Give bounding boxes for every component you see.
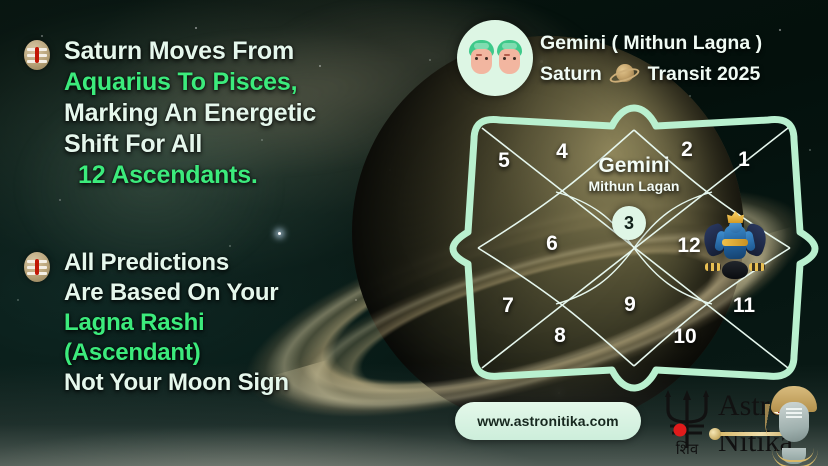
- house-number-8: 8: [554, 324, 566, 348]
- message-block-1: Saturn Moves From Aquarius To Pisces, Ma…: [24, 36, 316, 191]
- website-pill[interactable]: www.astronitika.com: [455, 402, 641, 440]
- headline-line: Saturn Moves From: [64, 36, 316, 67]
- house-number-5: 5: [498, 149, 510, 173]
- header-title: Gemini ( Mithun Lagna ) Saturn Transit 2…: [540, 28, 828, 90]
- sign-name: Gemini: [544, 154, 724, 177]
- shiva-face-icon: [762, 386, 828, 464]
- message-block-2-lines: All Predictions Are Based On Your Lagna …: [64, 248, 289, 398]
- house-number-1: 1: [738, 148, 750, 172]
- headline-line: 12 Ascendants.: [64, 160, 316, 191]
- house-number-6: 6: [546, 232, 558, 256]
- gemini-twins-icon: [457, 20, 533, 96]
- saturn-deity-icon: [704, 211, 766, 279]
- subline: Are Based On Your: [64, 278, 289, 308]
- message-block-1-lines: Saturn Moves From Aquarius To Pisces, Ma…: [64, 36, 316, 191]
- house-number-12: 12: [677, 234, 700, 258]
- headline-line: Shift For All: [64, 129, 316, 160]
- trishul-icon: शिव: [656, 390, 718, 456]
- subline: All Predictions: [64, 248, 289, 278]
- message-block-2: All Predictions Are Based On Your Lagna …: [24, 248, 289, 398]
- header-saturn-word: Saturn: [540, 63, 602, 85]
- sign-name-local: Mithun Lagan: [544, 177, 724, 195]
- twin-face-right: [496, 38, 523, 78]
- saturn-planet-icon: [609, 63, 640, 85]
- devanagari-shiva: शिव: [676, 440, 699, 456]
- astronitika-logo[interactable]: शिव Astro Nitika: [652, 386, 828, 464]
- house-number-4: 4: [556, 140, 568, 164]
- twin-face-left: [468, 38, 495, 78]
- promo-banner: Saturn Moves From Aquarius To Pisces, Ma…: [0, 0, 828, 466]
- tripundra-icon: [24, 252, 50, 282]
- headline-line: Marking An Energetic: [64, 98, 316, 129]
- header-transit-word: Transit 2025: [648, 63, 761, 85]
- subline: (Ascendant): [64, 338, 289, 368]
- subline: Not Your Moon Sign: [64, 368, 289, 398]
- house-number-10: 10: [673, 325, 696, 349]
- lagna-house-badge: 3: [612, 206, 646, 240]
- left-copy-panel: Saturn Moves From Aquarius To Pisces, Ma…: [0, 0, 452, 466]
- header-title-line-2: Saturn Transit 2025: [540, 59, 828, 90]
- chart-center-sign: Gemini Mithun Lagan: [544, 154, 724, 195]
- header-title-line-1: Gemini ( Mithun Lagna ): [540, 28, 828, 59]
- house-number-9: 9: [624, 293, 636, 317]
- subline: Lagna Rashi: [64, 308, 289, 338]
- house-number-7: 7: [502, 294, 514, 318]
- headline-line: Aquarius To Pisces,: [64, 67, 316, 98]
- website-url: www.astronitika.com: [477, 413, 618, 429]
- kundali-chart: Gemini Mithun Lagan 3 1 2 4 5 6 7 8 9 10…: [452, 106, 816, 388]
- house-number-2: 2: [681, 138, 693, 162]
- tripundra-icon: [24, 40, 50, 70]
- house-number-11: 11: [733, 294, 755, 318]
